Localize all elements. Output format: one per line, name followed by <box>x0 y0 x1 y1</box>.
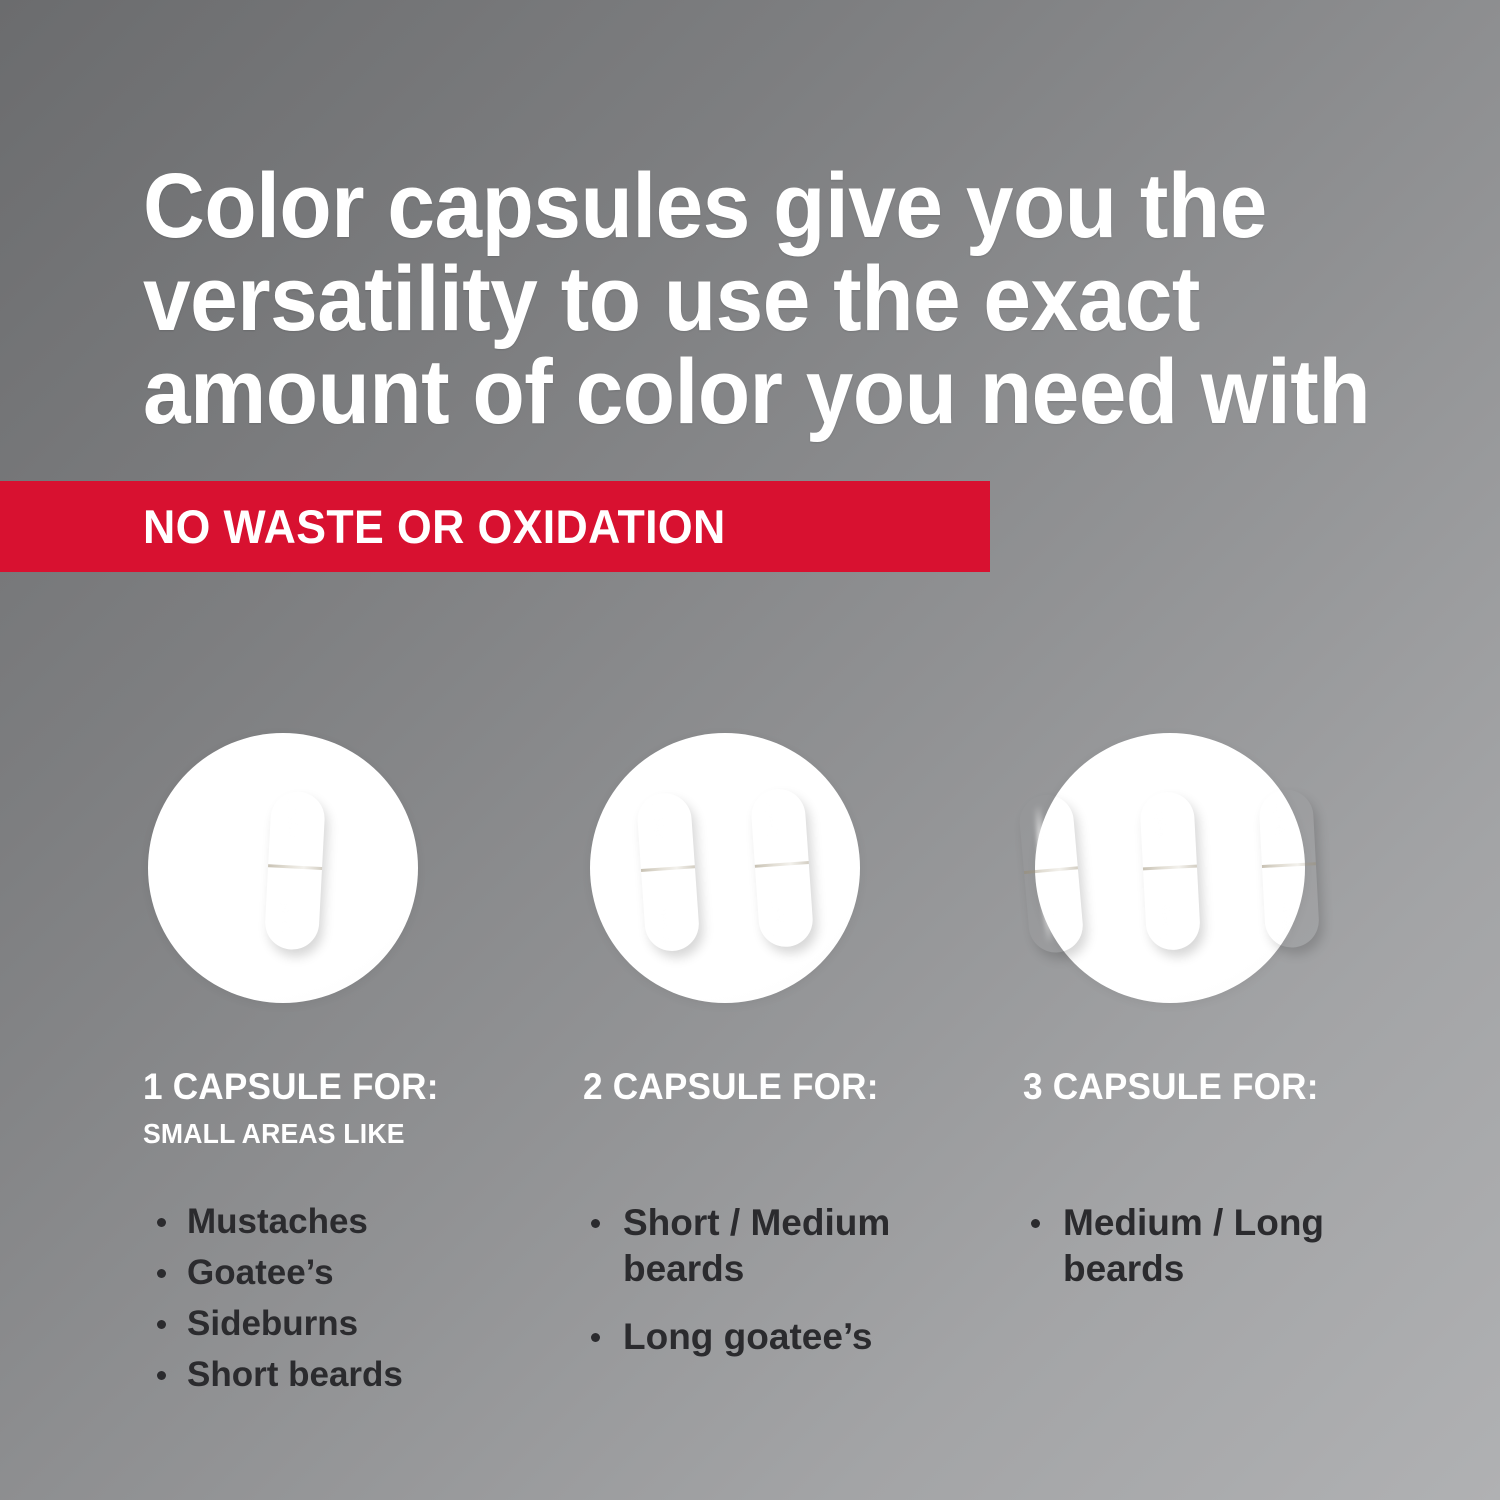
bullet-dot-icon <box>591 1219 600 1228</box>
capsule-group-1 <box>148 733 418 1003</box>
capsule-icon <box>1258 788 1320 949</box>
column-1-capsule: 1 CAPSULE FOR: SMALL AREAS LIKE Mustache… <box>143 733 543 1404</box>
capsule-icon <box>750 787 815 948</box>
list-item: Medium / Long beards <box>1023 1200 1423 1292</box>
bullet-dot-icon <box>157 1320 166 1329</box>
list-item-label: Mustaches <box>187 1202 368 1241</box>
column-1-bullet-list: Mustaches Goatee’s Sideburns Short beard… <box>143 1200 543 1397</box>
headline-line-1: Color capsules give you the <box>143 160 1343 253</box>
column-1-heading: 1 CAPSULE FOR: <box>143 1066 523 1108</box>
bullet-dot-icon <box>591 1333 600 1342</box>
column-3-capsule: 3 CAPSULE FOR: Medium / Long beards <box>1023 733 1423 1314</box>
bullet-dot-icon <box>157 1371 166 1380</box>
list-item: Mustaches <box>143 1200 543 1244</box>
column-2-bullet-list: Short / Medium beards Long goatee’s <box>583 1200 983 1360</box>
list-item-label: Medium / Long beards <box>1063 1202 1324 1289</box>
capsule-icon <box>636 791 701 952</box>
list-item-label: Short beards <box>187 1355 403 1394</box>
list-item-label: Short / Medium beards <box>623 1202 890 1289</box>
capsule-icon <box>1017 793 1085 955</box>
capsule-icon <box>264 790 326 951</box>
list-item: Sideburns <box>143 1302 543 1346</box>
capsule-group-2 <box>590 733 860 1003</box>
banner-text: NO WASTE OR OXIDATION <box>143 499 726 554</box>
capsule-group-3 <box>1035 733 1305 1003</box>
list-item-label: Sideburns <box>187 1304 358 1343</box>
headline-line-3: amount of color you need with <box>143 346 1343 439</box>
highlight-banner: NO WASTE OR OXIDATION <box>0 481 990 572</box>
infographic-page: Color capsules give you the versatility … <box>0 0 1500 1500</box>
capsule-photo-3 <box>1035 733 1305 1003</box>
capsule-photo-1 <box>148 733 418 1003</box>
headline: Color capsules give you the versatility … <box>143 160 1433 439</box>
bullet-dot-icon <box>157 1218 166 1227</box>
list-item: Short beards <box>143 1353 543 1397</box>
list-item: Goatee’s <box>143 1251 543 1295</box>
headline-line-2: versatility to use the exact <box>143 253 1343 346</box>
bullet-dot-icon <box>1031 1219 1040 1228</box>
list-item: Short / Medium beards <box>583 1200 983 1292</box>
column-2-capsule: 2 CAPSULE FOR: Short / Medium beards Lon… <box>583 733 983 1382</box>
capsule-icon <box>1139 791 1201 952</box>
list-item-label: Long goatee’s <box>623 1316 872 1357</box>
list-item-label: Goatee’s <box>187 1253 334 1292</box>
column-2-heading: 2 CAPSULE FOR: <box>583 1066 963 1108</box>
column-3-bullet-list: Medium / Long beards <box>1023 1200 1423 1292</box>
list-item: Long goatee’s <box>583 1314 983 1360</box>
column-3-heading: 3 CAPSULE FOR: <box>1023 1066 1403 1108</box>
capsule-photo-2 <box>590 733 860 1003</box>
bullet-dot-icon <box>157 1269 166 1278</box>
column-1-subheading: SMALL AREAS LIKE <box>143 1118 523 1150</box>
